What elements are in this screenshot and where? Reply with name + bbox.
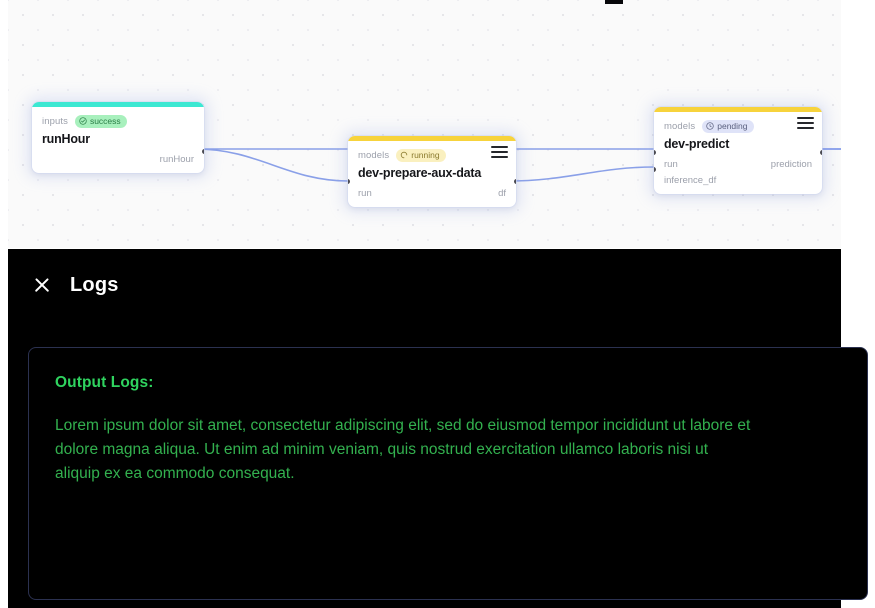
output-handle-prediction[interactable] (820, 150, 822, 155)
port-row: inference_df (664, 172, 812, 188)
graph-node-inputs[interactable]: inputs success runHour runHour (32, 102, 204, 173)
node-ports: run prediction inference_df (664, 156, 812, 188)
status-badge-running: running (396, 149, 445, 162)
node-body: models pending dev-predict run predictio… (654, 112, 822, 194)
port-row: run df (358, 185, 506, 201)
app-root: inputs success runHour runHour (0, 0, 875, 608)
input-port-inference-df[interactable]: inference_df (664, 175, 716, 186)
node-meta-row: models pending (664, 119, 812, 133)
graph-node-dev-prepare-aux-data[interactable]: models running dev-prepare-aux-data run … (348, 136, 516, 207)
port-row: runHour (42, 151, 194, 167)
node-meta-row: models running (358, 148, 506, 162)
status-badge-success: success (75, 115, 127, 128)
node-body: inputs success runHour runHour (32, 107, 204, 173)
status-badge-label: running (411, 149, 439, 162)
node-ports: run df (358, 185, 506, 201)
node-body: models running dev-prepare-aux-data run … (348, 141, 516, 207)
status-badge-label: success (90, 115, 121, 128)
status-badge-pending: pending (702, 120, 753, 133)
port-row: run prediction (664, 156, 812, 172)
hamburger-menu-icon[interactable] (797, 116, 814, 130)
offscreen-panel-stub (605, 0, 623, 4)
output-handle-df[interactable] (514, 179, 516, 184)
node-title: dev-prepare-aux-data (358, 166, 506, 180)
close-icon[interactable] (32, 275, 52, 295)
output-port-runhour[interactable]: runHour (160, 154, 194, 165)
logs-output-text: Lorem ipsum dolor sit amet, consectetur … (55, 414, 755, 486)
node-kind-label: inputs (42, 116, 68, 127)
node-meta-row: inputs success (42, 114, 194, 128)
node-ports: runHour (42, 151, 194, 167)
node-kind-label: models (664, 121, 695, 132)
logs-output-heading: Output Logs: (55, 374, 845, 392)
clock-icon (706, 122, 714, 130)
graph-node-dev-predict[interactable]: models pending dev-predict run predictio… (654, 107, 822, 194)
logs-header: Logs (8, 249, 119, 321)
logs-overlay-panel: Logs Output Logs: Lorem ipsum dolor sit … (8, 249, 841, 608)
node-kind-label: models (358, 150, 389, 161)
hamburger-menu-icon[interactable] (491, 145, 508, 159)
output-handle[interactable] (202, 149, 204, 154)
spinner-icon (400, 151, 408, 159)
node-title: runHour (42, 132, 194, 146)
status-badge-label: pending (717, 120, 747, 133)
output-port-df[interactable]: df (498, 188, 506, 199)
input-port-run[interactable]: run (664, 159, 678, 170)
check-circle-icon (79, 117, 87, 125)
output-port-prediction[interactable]: prediction (771, 159, 812, 170)
logs-output-box[interactable]: Output Logs: Lorem ipsum dolor sit amet,… (28, 347, 868, 600)
node-title: dev-predict (664, 137, 812, 151)
pipeline-graph-canvas[interactable]: inputs success runHour runHour (8, 0, 841, 248)
input-port-run[interactable]: run (358, 188, 372, 199)
logs-panel-title: Logs (70, 274, 119, 297)
